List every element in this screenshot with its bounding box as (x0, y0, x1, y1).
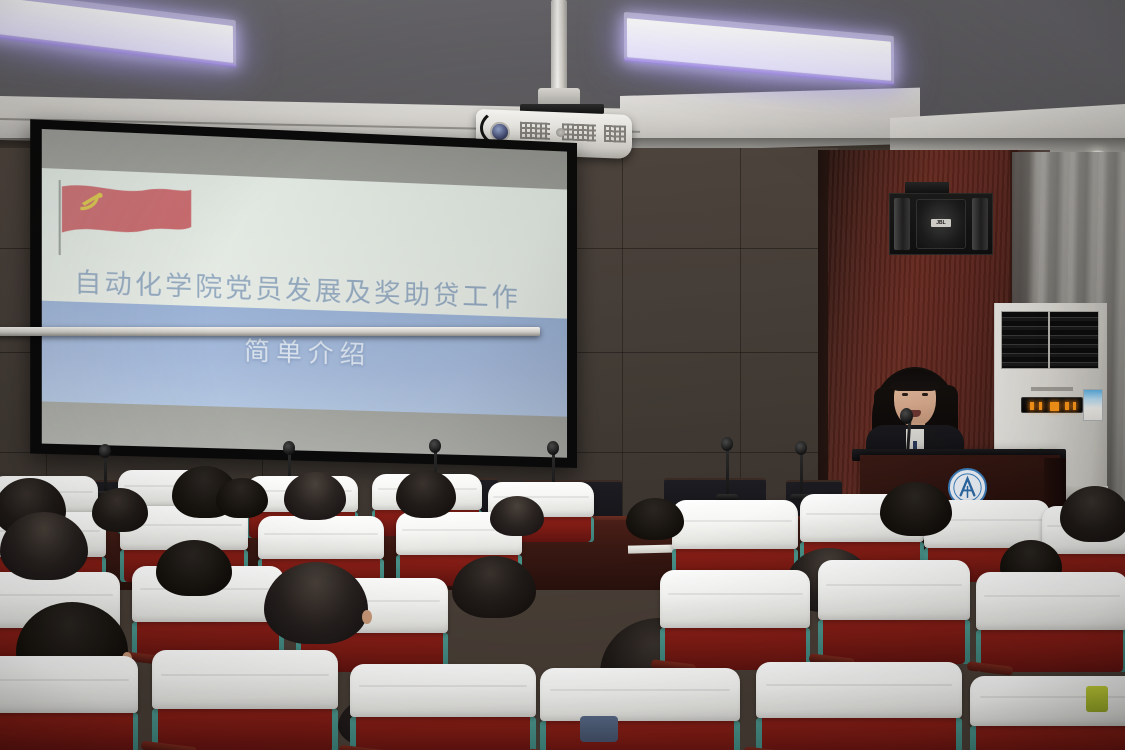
cpc-party-flag (59, 180, 193, 260)
seat-rm-b (818, 560, 970, 664)
table-mic-2-head (283, 441, 295, 455)
table-mic-5-head (721, 437, 733, 451)
presenter-eye (902, 393, 908, 396)
head-18 (92, 488, 148, 532)
wall-seam (622, 148, 623, 528)
table-mic-1-head (99, 444, 111, 458)
head-8 (452, 556, 536, 618)
table-mic-3-head (429, 439, 441, 453)
table-mic-6-head (795, 441, 807, 455)
seat-head-cover (0, 656, 138, 713)
head-19 (626, 498, 684, 540)
seat-rf-a (540, 668, 740, 750)
seat-head-cover (818, 560, 970, 620)
head-7 (156, 540, 232, 596)
seat-head-cover (976, 572, 1125, 630)
head-20 (490, 496, 544, 536)
head-5 (216, 478, 268, 518)
projection-screen: 自动化学院党员发展及奖助贷工作 简单介绍 (30, 119, 577, 468)
seat-rm-c (976, 572, 1125, 672)
seated-person-clothing (580, 716, 618, 742)
ac-display-segment (1065, 402, 1069, 410)
ac-energy-label-sticker (1083, 389, 1103, 421)
screen-weight-bar (0, 327, 540, 336)
seat-rf-b (756, 662, 962, 750)
head-3 (284, 472, 346, 520)
wall-speaker: JBL (889, 193, 993, 255)
ac-brand-mark (1031, 387, 1073, 391)
speaker-driver: JBL (916, 199, 966, 249)
table-mic-5 (726, 448, 729, 494)
ac-display-segment (1050, 402, 1059, 411)
seat-back-cushion (158, 709, 333, 750)
flag-graphic (60, 180, 194, 260)
seat-head-cover (350, 664, 536, 717)
projector-vent (604, 125, 626, 143)
slide-surface: 自动化学院党员发展及奖助贷工作 简单介绍 (42, 129, 567, 458)
speaker-brand-badge: JBL (931, 219, 951, 227)
projector-vent (562, 123, 596, 141)
ceiling-light-fixture-right (624, 12, 894, 84)
seat-back-cushion (976, 726, 1125, 750)
ac-display-panel[interactable] (1021, 397, 1083, 413)
projector-mount-pole (551, 0, 567, 92)
seat-head-cover (756, 662, 962, 718)
ceiling-light-fixture-left (0, 0, 236, 66)
presenter-eye (922, 393, 928, 396)
ac-vent-grille (1001, 311, 1099, 369)
seat-head-cover (258, 516, 384, 559)
wall-seam (740, 148, 741, 528)
head-14 (1060, 486, 1125, 542)
ac-display-segment (1073, 402, 1076, 410)
seat-back-cushion (762, 718, 956, 750)
table-mic-4-head (547, 441, 559, 455)
screen-border: 自动化学院党员发展及奖助贷工作 简单介绍 (30, 119, 577, 468)
speaker-side-port (972, 198, 988, 250)
seat-back-cushion (356, 717, 531, 750)
head-4 (396, 470, 456, 518)
seat-head-cover (672, 500, 798, 549)
seat-head-cover (540, 668, 740, 721)
podium-microphone-head (900, 408, 913, 424)
speaker-side-port (894, 198, 910, 250)
seat-head-cover (152, 650, 338, 709)
seat-r2-b (152, 650, 338, 750)
ac-display-segment (1039, 402, 1042, 410)
table-mic-6 (800, 452, 803, 494)
seat-head-cover (660, 570, 810, 628)
auditorium-photo: JBL (0, 0, 1125, 750)
seat-r2-c (350, 664, 536, 750)
seat-back-cushion (546, 721, 734, 750)
head-13 (880, 482, 952, 536)
ac-display-segment (1030, 402, 1034, 410)
ac-grille-divider (1048, 311, 1050, 369)
head-9-ear (362, 610, 372, 624)
seat-rm-a (660, 570, 810, 670)
seat-back-cushion (0, 713, 133, 750)
projector-adjust-knob (556, 128, 565, 137)
table-mic-1 (104, 455, 107, 491)
safety-vest (1086, 686, 1108, 712)
seat-r2-a (0, 656, 138, 750)
